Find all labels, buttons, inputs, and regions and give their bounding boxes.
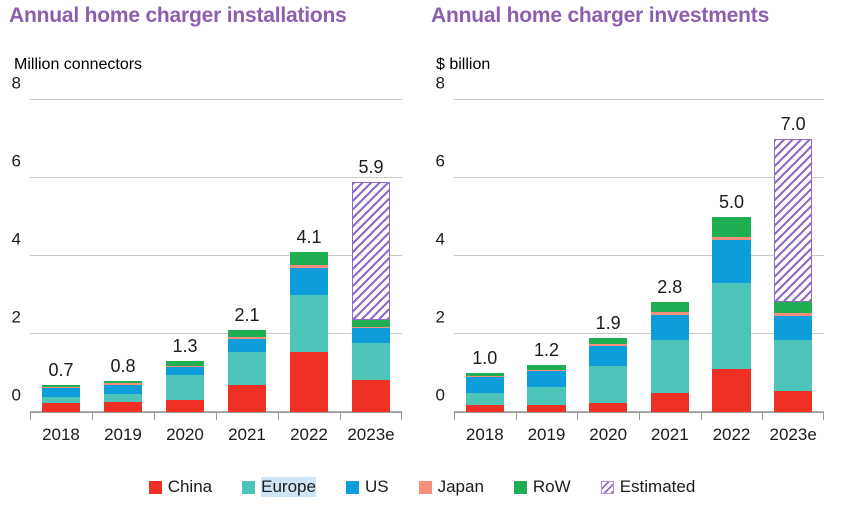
x-axis-label-2020: 2020 [589, 425, 627, 445]
bar-stack[interactable] [352, 320, 390, 412]
bar-segment-europe[interactable] [466, 393, 504, 406]
x-axis-tick-mark [340, 412, 341, 420]
y-axis-tick-label: 6 [12, 153, 21, 170]
gridline-2 [30, 333, 402, 334]
y-axis-tick-label: 0 [12, 387, 21, 404]
x-axis-label-2021: 2021 [651, 425, 689, 445]
bar-segment-europe[interactable] [527, 387, 565, 405]
bar-segment-us[interactable] [166, 367, 204, 375]
bar-value-label: 1.2 [534, 341, 559, 359]
bar-segment-europe[interactable] [352, 343, 390, 380]
x-axis-label-2018: 2018 [466, 425, 504, 445]
bar-segment-europe[interactable] [589, 366, 627, 403]
bar-stack[interactable] [774, 302, 812, 412]
bar-segment-us[interactable] [774, 316, 812, 339]
bar-group-2019[interactable]: 0.82019 [104, 100, 142, 412]
bar-segment-europe[interactable] [290, 295, 328, 352]
bar-value-label: 2.1 [234, 306, 259, 324]
legend-label: US [365, 477, 389, 497]
bar-segment-us[interactable] [228, 339, 266, 353]
chart-panel-installations: Annual home charger installations Millio… [0, 0, 422, 462]
x-axis-label-2023e: 2023e [770, 425, 817, 445]
legend-label: RoW [533, 477, 571, 497]
bar-segment-us[interactable] [42, 388, 80, 397]
bar-segment-china[interactable] [352, 380, 390, 412]
bar-stack[interactable] [589, 338, 627, 412]
bar-stack[interactable] [228, 330, 266, 412]
x-axis-tick-mark [762, 412, 763, 420]
bar-value-label: 1.0 [472, 349, 497, 367]
bar-value-label: 1.9 [596, 314, 621, 332]
bar-value-label: 5.0 [719, 193, 744, 211]
legend-label: Europe [261, 477, 316, 497]
legend-item-estimated[interactable]: Estimated [601, 477, 696, 497]
x-axis-tick-mark [823, 412, 824, 420]
bar-segment-china[interactable] [651, 393, 689, 413]
legend-item-japan[interactable]: Japan [419, 477, 484, 497]
bar-value-label: 2.8 [657, 278, 682, 296]
bar-segment-us[interactable] [527, 371, 565, 387]
y-axis-unit-label-investments: $ billion [436, 56, 490, 74]
x-axis-tick-mark [216, 412, 217, 420]
x-axis-label-2022: 2022 [713, 425, 751, 445]
bar-value-label: 4.1 [296, 228, 321, 246]
bar-value-label: 0.7 [48, 361, 73, 379]
bar-segment-us[interactable] [290, 268, 328, 295]
bar-value-label: 7.0 [781, 115, 806, 133]
x-axis-tick-mark [639, 412, 640, 420]
legend-label: China [168, 477, 212, 497]
legend-swatch-row-icon [514, 481, 527, 494]
bar-segment-china[interactable] [166, 400, 204, 412]
bar-value-label: 1.3 [172, 337, 197, 355]
bar-segment-row[interactable] [290, 252, 328, 266]
y-axis-tick-label: 4 [436, 231, 445, 248]
x-axis-tick-mark [30, 412, 31, 420]
y-axis-tick-label: 2 [12, 309, 21, 326]
legend-swatch-europe-icon [242, 481, 255, 494]
bar-segment-china[interactable] [228, 385, 266, 412]
legend: ChinaEuropeUSJapanRoWEstimated [0, 477, 844, 497]
x-axis-label-2018: 2018 [42, 425, 80, 445]
x-axis-tick-mark [401, 412, 402, 420]
x-axis-label-2020: 2020 [166, 425, 204, 445]
bar-stack[interactable] [651, 302, 689, 412]
gridline-8 [454, 99, 824, 100]
bar-segment-us[interactable] [651, 315, 689, 340]
bar-segment-china[interactable] [290, 352, 328, 412]
bar-segment-europe[interactable] [651, 340, 689, 393]
bar-stack[interactable] [527, 365, 565, 412]
bar-stack[interactable] [712, 217, 750, 412]
x-axis-label-2019: 2019 [528, 425, 566, 445]
bar-group-2023e[interactable]: 5.92023e [352, 100, 390, 412]
y-axis-unit-label-installations: Million connectors [14, 56, 142, 74]
bar-segment-us[interactable] [712, 240, 750, 283]
x-axis-tick-mark [454, 412, 455, 420]
bar-segment-europe[interactable] [774, 340, 812, 391]
legend-swatch-japan-icon [419, 481, 432, 494]
bar-segment-europe[interactable] [104, 394, 142, 402]
bar-segment-us[interactable] [589, 346, 627, 367]
bar-group-2022[interactable]: 4.12022 [290, 100, 328, 412]
chart-title-installations: Annual home charger installations [9, 4, 347, 28]
gridline-4 [30, 255, 402, 256]
gridline-6 [30, 177, 402, 178]
bar-group-2021[interactable]: 2.12021 [228, 100, 266, 412]
y-axis-tick-label: 8 [436, 75, 445, 92]
bar-segment-europe[interactable] [712, 283, 750, 369]
plot-area-installations: 024680.720180.820191.320202.120214.12022… [30, 100, 402, 412]
bar-segment-estimated[interactable] [352, 182, 390, 320]
gridline-2 [454, 333, 824, 334]
bar-segment-europe[interactable] [42, 397, 80, 404]
bar-segment-us[interactable] [466, 377, 504, 392]
x-axis-label-2021: 2021 [228, 425, 266, 445]
y-axis-tick-label: 8 [12, 75, 21, 92]
bar-segment-europe[interactable] [166, 375, 204, 400]
legend-swatch-china-icon [149, 481, 162, 494]
y-axis-tick-label: 0 [436, 387, 445, 404]
bar-segment-row[interactable] [712, 217, 750, 237]
bar-segment-china[interactable] [774, 391, 812, 412]
bar-value-label: 0.8 [110, 357, 135, 375]
bar-segment-us[interactable] [352, 328, 390, 343]
legend-item-row[interactable]: RoW [514, 477, 571, 497]
bar-stack[interactable] [104, 381, 142, 412]
plot-area-investments: 024681.020181.220191.920202.820215.02022… [454, 100, 824, 412]
chart-panel-investments: Annual home charger investments $ billio… [422, 0, 844, 462]
bar-stack[interactable] [466, 373, 504, 412]
x-axis-tick-mark [516, 412, 517, 420]
bar-segment-china[interactable] [589, 403, 627, 412]
x-axis-tick-mark [278, 412, 279, 420]
bar-segment-row[interactable] [651, 302, 689, 312]
x-axis-label-2022: 2022 [290, 425, 328, 445]
legend-item-us[interactable]: US [346, 477, 389, 497]
gridline-6 [454, 177, 824, 178]
gridline-8 [30, 99, 402, 100]
bar-segment-china[interactable] [527, 405, 565, 412]
bar-group-2018[interactable]: 0.72018 [42, 100, 80, 412]
bar-group-2018[interactable]: 1.02018 [466, 100, 504, 412]
x-axis-tick-mark [577, 412, 578, 420]
bar-segment-china[interactable] [42, 403, 80, 412]
bar-stack[interactable] [42, 385, 80, 412]
bar-value-label: 5.9 [358, 158, 383, 176]
bar-segment-row[interactable] [228, 330, 266, 337]
bar-segment-china[interactable] [104, 402, 142, 412]
legend-label: Estimated [620, 477, 696, 497]
charts-container: Annual home charger installations Millio… [0, 0, 844, 462]
bar-segment-china[interactable] [466, 405, 504, 412]
x-axis-label-2019: 2019 [104, 425, 142, 445]
x-axis-tick-mark [701, 412, 702, 420]
bar-segment-row[interactable] [774, 302, 812, 314]
y-axis-tick-label: 2 [436, 309, 445, 326]
bar-group-2023e[interactable]: 7.02023e [774, 100, 812, 412]
legend-label: Japan [438, 477, 484, 497]
y-axis-tick-label: 6 [436, 153, 445, 170]
bar-segment-europe[interactable] [228, 352, 266, 385]
legend-item-china[interactable]: China [149, 477, 212, 497]
legend-swatch-us-icon [346, 481, 359, 494]
bar-stack[interactable] [166, 361, 204, 412]
legend-item-europe[interactable]: Europe [242, 477, 316, 497]
gridline-4 [454, 255, 824, 256]
bar-group-2020[interactable]: 1.92020 [589, 100, 627, 412]
bar-segment-us[interactable] [104, 385, 142, 394]
bar-stack[interactable] [290, 252, 328, 412]
bar-group-2021[interactable]: 2.82021 [651, 100, 689, 412]
legend-swatch-estimated-icon [601, 481, 614, 494]
x-axis-tick-mark [92, 412, 93, 420]
bar-group-2020[interactable]: 1.32020 [166, 100, 204, 412]
x-axis-label-2023e: 2023e [347, 425, 394, 445]
x-axis-tick-mark [154, 412, 155, 420]
bar-group-2019[interactable]: 1.22019 [527, 100, 565, 412]
bar-segment-china[interactable] [712, 369, 750, 412]
chart-title-investments: Annual home charger investments [431, 4, 769, 28]
y-axis-tick-label: 4 [12, 231, 21, 248]
bar-group-2022[interactable]: 5.02022 [712, 100, 750, 412]
bar-segment-estimated[interactable] [774, 139, 812, 302]
